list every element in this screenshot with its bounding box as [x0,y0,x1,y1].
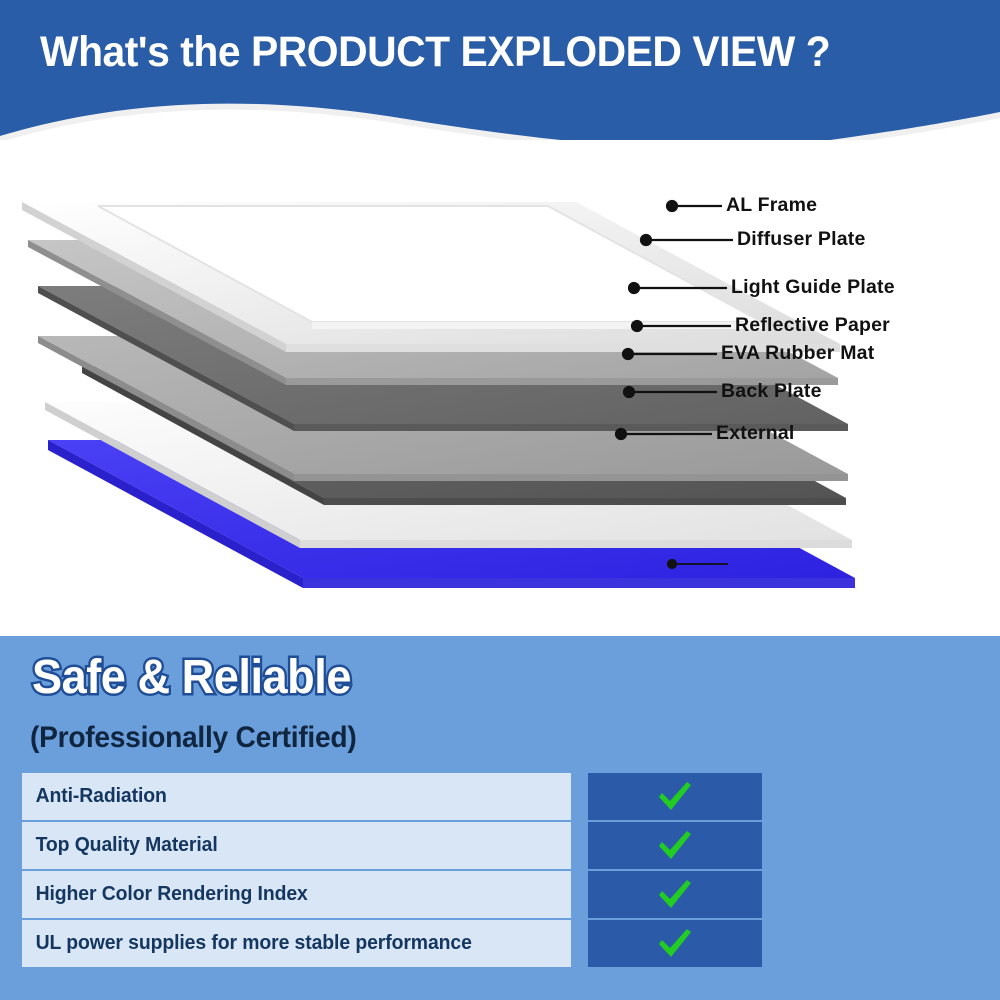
feature-check-cell [588,773,762,820]
checkmark-icon [655,829,695,863]
checkmark-icon [655,780,695,814]
layer-label-reflective-paper: Reflective Paper [735,314,890,337]
layer-label-al-frame: AL Frame [726,194,817,217]
exploded-view-section: AL Frame Diffuser Plate Light Guide Plat… [0,140,1000,636]
certification-feature-table: Anti-Radiation Top Quality Material High… [22,773,762,969]
feature-label: UL power supplies for more stable perfor… [22,920,571,967]
safe-section-subtitle: (Professionally Certified) [30,721,356,755]
layer-label-light-guide-plate: Light Guide Plate [731,276,895,299]
table-row: Top Quality Material [22,822,762,869]
checkmark-icon [655,927,695,961]
checkmark-icon [655,878,695,912]
layer-label-eva-rubber-mat: EVA Rubber Mat [721,342,874,365]
feature-check-cell [588,822,762,869]
feature-label: Higher Color Rendering Index [22,871,571,918]
exploded-view-illustration [0,140,1000,636]
feature-check-cell [588,920,762,967]
layer-label-back-plate: Back Plate [721,380,822,403]
layer-label-external: External [716,422,795,445]
table-row: UL power supplies for more stable perfor… [22,920,762,967]
feature-check-cell [588,871,762,918]
safe-and-reliable-section: Safe & Reliable (Professionally Certifie… [0,636,1000,1000]
safe-section-title: Safe & Reliable [32,650,351,705]
layer-label-diffuser-plate: Diffuser Plate [737,228,866,251]
table-row: Higher Color Rendering Index [22,871,762,918]
feature-label: Anti-Radiation [22,773,571,820]
page-title: What's the PRODUCT EXPLODED VIEW ? [40,28,924,77]
feature-label: Top Quality Material [22,822,571,869]
header-band: What's the PRODUCT EXPLODED VIEW ? [0,0,1000,152]
table-row: Anti-Radiation [22,773,762,820]
